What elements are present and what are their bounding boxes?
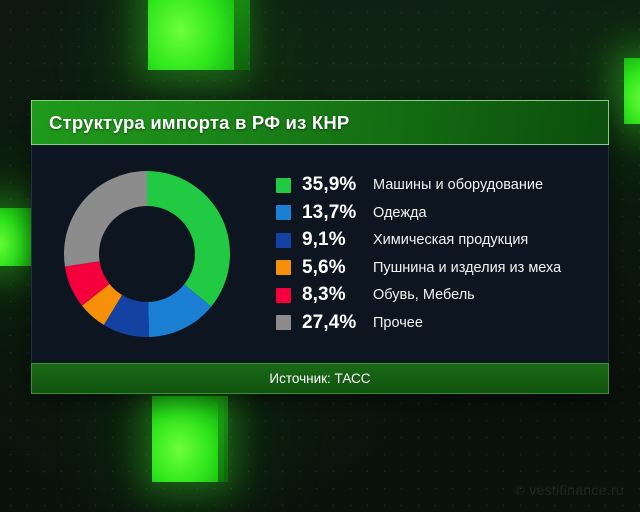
legend-label: Одежда — [373, 205, 427, 221]
legend-color-swatch — [276, 233, 291, 248]
page-title: Структура импорта в РФ из КНР — [32, 112, 349, 134]
legend-percent: 9,1% — [302, 229, 368, 251]
legend-label: Химическая продукция — [373, 232, 528, 248]
legend-percent: 27,4% — [302, 312, 368, 334]
legend-label: Пушнина и изделия из меха — [373, 260, 561, 276]
card-body: 35,9%Машины и оборудование13,7%Одежда9,1… — [31, 145, 609, 363]
infographic-card: Структура импорта в РФ из КНР 35,9%Машин… — [31, 100, 609, 394]
legend-percent: 35,9% — [302, 174, 368, 196]
chart-legend: 35,9%Машины и оборудование13,7%Одежда9,1… — [262, 145, 608, 363]
legend-item[interactable]: 13,7%Одежда — [276, 199, 608, 227]
legend-item[interactable]: 35,9%Машины и оборудование — [276, 172, 608, 200]
legend-percent: 8,3% — [302, 284, 368, 306]
legend-item[interactable]: 9,1%Химическая продукция — [276, 227, 608, 255]
legend-color-swatch — [276, 315, 291, 330]
legend-percent: 13,7% — [302, 202, 368, 224]
legend-color-swatch — [276, 205, 291, 220]
legend-color-swatch — [276, 178, 291, 193]
legend-label: Прочее — [373, 315, 423, 331]
legend-item[interactable]: 27,4%Прочее — [276, 309, 608, 337]
donut-graphic — [64, 171, 230, 337]
card-title-bar: Структура импорта в РФ из КНР — [31, 100, 609, 145]
donut-chart — [32, 145, 262, 363]
legend-label: Обувь, Мебель — [373, 287, 475, 303]
legend-item[interactable]: 8,3%Обувь, Мебель — [276, 282, 608, 310]
legend-color-swatch — [276, 288, 291, 303]
legend-label: Машины и оборудование — [373, 177, 543, 193]
donut-center-hole — [99, 206, 195, 302]
card-footer-bar: Источник: ТАСС — [31, 363, 609, 394]
legend-color-swatch — [276, 260, 291, 275]
legend-item[interactable]: 5,6%Пушнина и изделия из меха — [276, 254, 608, 282]
watermark: © vestifinance.ru — [514, 482, 624, 498]
source-label: Источник: ТАСС — [269, 371, 370, 386]
legend-percent: 5,6% — [302, 257, 368, 279]
